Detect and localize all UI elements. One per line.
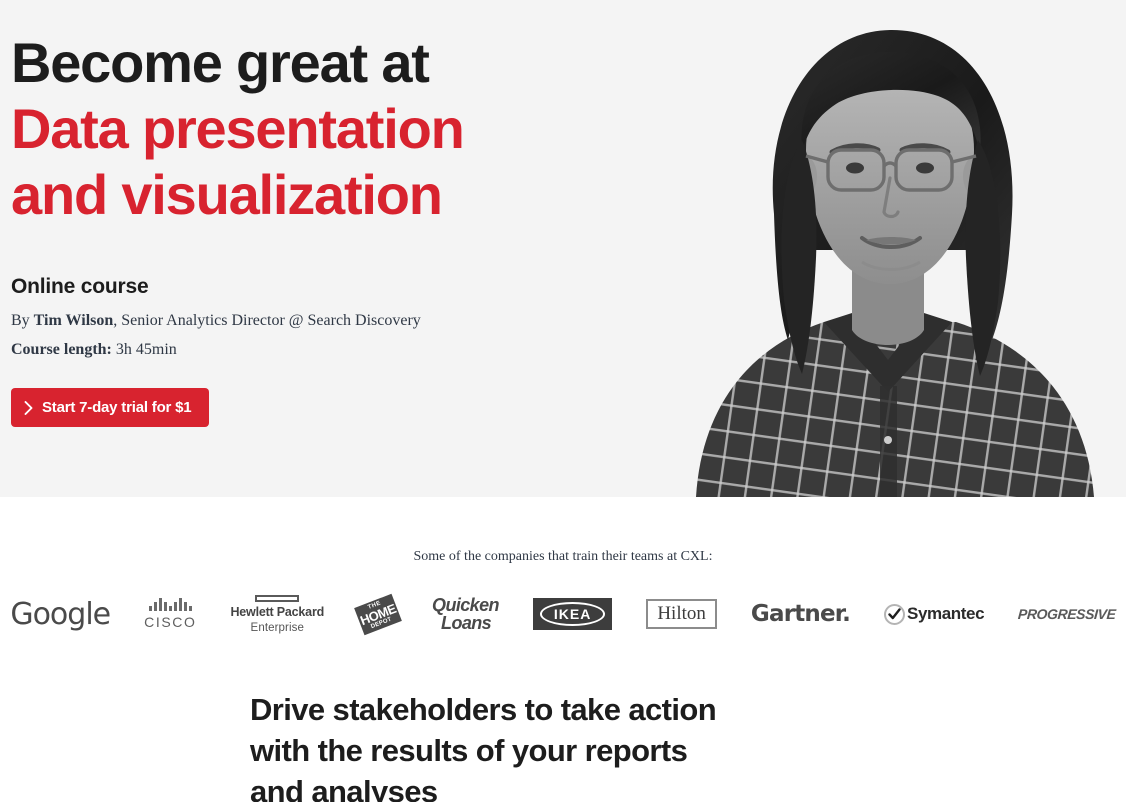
instructor-byline: By Tim Wilson, Senior Analytics Director… [11, 312, 651, 330]
hero-copy: Become great at Data presentation and vi… [11, 30, 651, 427]
logo-progressive: PROGRESSIVE [1018, 592, 1116, 636]
course-length: Course length: 3h 45min [11, 341, 651, 359]
logo-cisco: CISCO [144, 592, 196, 636]
logo-home-depot: THE HOME DEPOT [358, 592, 398, 636]
logo-symantec: Symantec [884, 592, 984, 636]
headline-line-1: Become great at [11, 30, 651, 96]
headline-line-3: and visualization [11, 162, 651, 228]
benefit-section: Drive stakeholders to take action with t… [0, 643, 1126, 802]
hpe-bar-icon [255, 595, 299, 602]
course-format-label: Online course [11, 275, 651, 299]
headline-line-2: Data presentation [11, 96, 651, 162]
chevron-right-icon [24, 401, 33, 415]
start-trial-button-label: Start 7-day trial for $1 [42, 399, 191, 416]
symantec-check-icon [884, 604, 905, 625]
company-logos-row: Google CISCO Hewlett Packard Enterprise [0, 585, 1126, 643]
social-proof-caption: Some of the companies that train their t… [0, 497, 1126, 565]
byline-suffix: , Senior Analytics Director @ Search Dis… [113, 312, 421, 329]
logo-google: Google [10, 592, 110, 636]
logo-gartner: Gartner. [751, 592, 850, 636]
logo-hewlett-packard-enterprise: Hewlett Packard Enterprise [230, 592, 324, 636]
course-length-value: 3h 45min [112, 341, 177, 358]
byline-prefix: By [11, 312, 34, 329]
page-title: Become great at Data presentation and vi… [11, 30, 651, 228]
cisco-bars-icon [149, 598, 192, 611]
logo-ikea: IKEA [533, 592, 612, 636]
hero-section: Become great at Data presentation and vi… [0, 0, 1126, 497]
course-length-label: Course length: [11, 341, 112, 358]
landing-page: Become great at Data presentation and vi… [0, 0, 1126, 802]
social-proof-section: Some of the companies that train their t… [0, 497, 1126, 643]
benefit-heading: Drive stakeholders to take action with t… [250, 689, 720, 802]
logo-quicken-loans: Quicken Loans [432, 592, 499, 636]
start-trial-button[interactable]: Start 7-day trial for $1 [11, 388, 209, 427]
instructor-portrait-image [656, 0, 1126, 497]
instructor-name: Tim Wilson [34, 312, 114, 329]
logo-hilton: Hilton [646, 592, 717, 636]
